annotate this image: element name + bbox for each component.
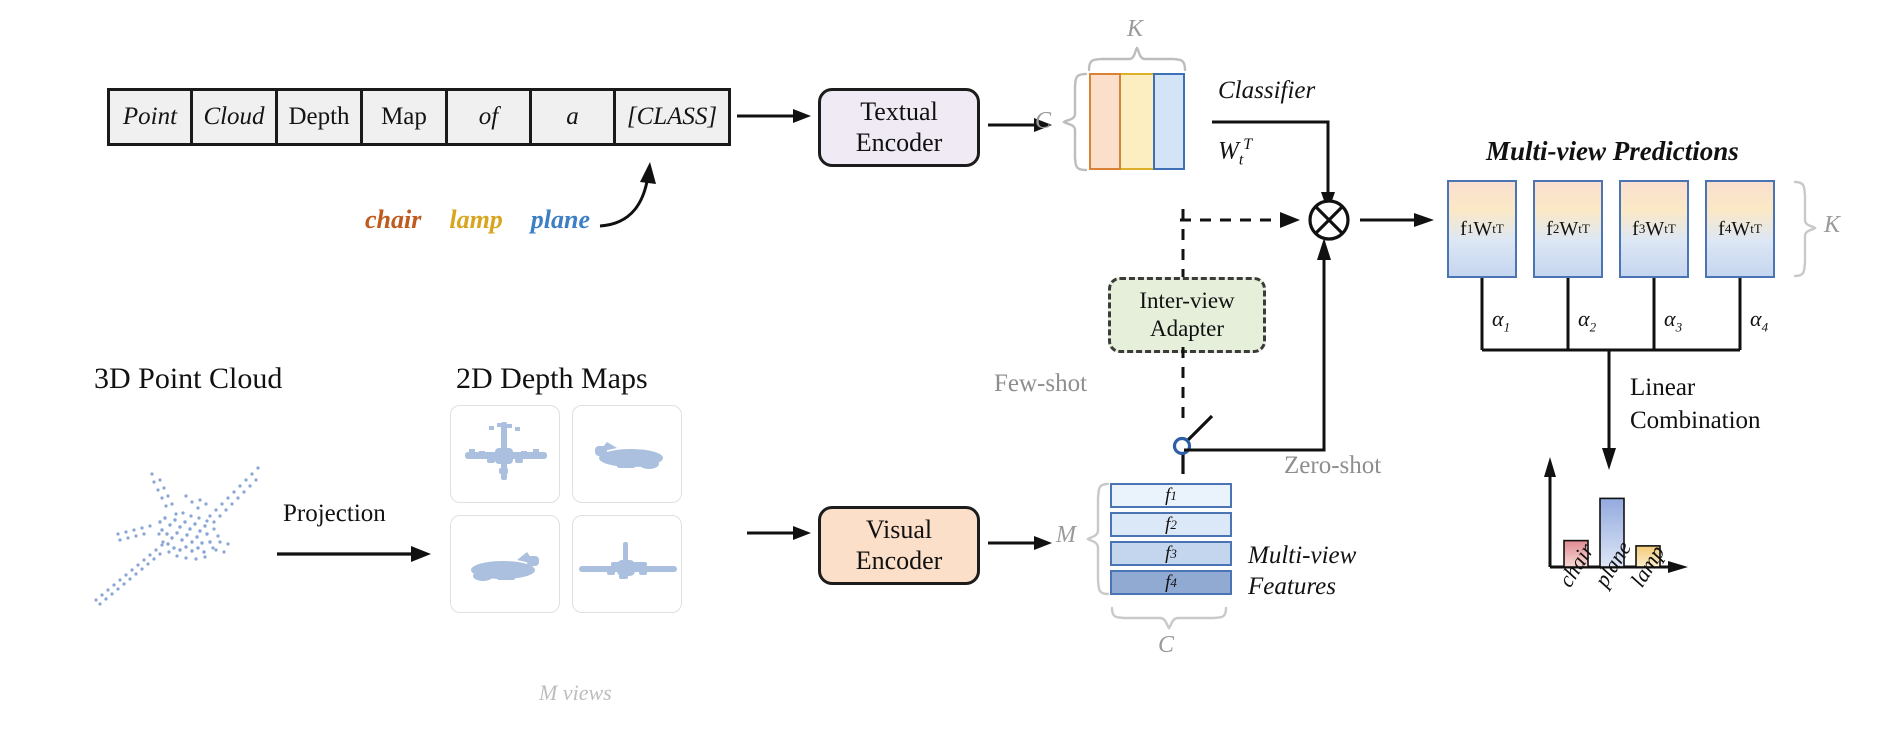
class-option-chair: chair bbox=[365, 205, 421, 235]
arrow-depthmaps-to-visual-encoder bbox=[745, 518, 815, 548]
arrow-prompt-to-textual-encoder bbox=[735, 100, 815, 132]
zero-shot-label: Zero-shot bbox=[1284, 452, 1381, 480]
brace-m-left bbox=[1086, 480, 1110, 598]
m-views-caption: M views bbox=[539, 680, 612, 706]
multi-view-feature-stack: f1 f2 f3 f4 bbox=[1110, 483, 1232, 595]
prompt-token-0: Point bbox=[110, 91, 193, 143]
mv-features-line2: Features bbox=[1248, 571, 1356, 602]
prompt-token-1: Cloud bbox=[193, 91, 278, 143]
alpha-label-1: α1 bbox=[1492, 306, 1510, 335]
prediction-box-1: f1WtT bbox=[1447, 180, 1517, 278]
arrow-projection bbox=[275, 540, 435, 568]
textual-encoder-box: Textual Encoder bbox=[818, 88, 980, 167]
brace-k-top bbox=[1085, 46, 1189, 72]
depth-map-view-4 bbox=[572, 515, 682, 613]
few-shot-label: Few-shot bbox=[994, 370, 1087, 398]
arrow-operator-to-predictions bbox=[1358, 206, 1438, 234]
prompt-token-class: [CLASS] bbox=[616, 91, 728, 143]
point-cloud-render bbox=[70, 430, 290, 610]
feature-row-2: f2 bbox=[1110, 512, 1232, 537]
alpha-label-4: α4 bbox=[1750, 306, 1768, 335]
predictions-k-label: K bbox=[1824, 212, 1840, 239]
brace-k-right bbox=[1793, 180, 1817, 280]
feature-row-1: f1 bbox=[1110, 483, 1232, 508]
classifier-column-plane bbox=[1153, 73, 1185, 170]
classifier-column-lamp bbox=[1121, 73, 1153, 170]
brace-c-left bbox=[1062, 70, 1088, 174]
depth-map-view-2 bbox=[572, 405, 682, 503]
prediction-box-3: f3WtT bbox=[1619, 180, 1689, 278]
classifier-weight-matrix bbox=[1089, 73, 1185, 170]
point-cloud-title: 3D Point Cloud bbox=[94, 362, 282, 396]
multiview-features-caption: Multi-view Features bbox=[1248, 540, 1356, 603]
classifier-c-label: C bbox=[1035, 108, 1051, 135]
prompt-token-row: Point Cloud Depth Map of a [CLASS] bbox=[107, 88, 731, 146]
linear-combination-line1: Linear bbox=[1630, 372, 1761, 405]
visual-encoder-line2: Encoder bbox=[856, 546, 943, 577]
textual-encoder-line2: Encoder bbox=[856, 128, 943, 159]
projection-label: Projection bbox=[283, 500, 386, 528]
prediction-box-4: f4WtT bbox=[1705, 180, 1775, 278]
class-option-plane: plane bbox=[531, 205, 590, 235]
mv-features-line1: Multi-view bbox=[1248, 540, 1356, 571]
classifier-column-chair bbox=[1089, 73, 1121, 170]
depth-map-4-render bbox=[573, 516, 682, 613]
prompt-token-4: of bbox=[448, 91, 532, 143]
curved-arrow-class-to-token bbox=[590, 140, 730, 230]
classifier-k-label: K bbox=[1127, 16, 1143, 43]
classifier-label: Classifier bbox=[1218, 77, 1315, 105]
feature-row-3: f3 bbox=[1110, 541, 1232, 566]
prompt-token-2: Depth bbox=[278, 91, 363, 143]
arrow-zeroshot-to-operator bbox=[1182, 236, 1342, 456]
dashed-arrow-adapter-to-operator bbox=[1178, 206, 1304, 234]
multi-view-prediction-boxes: f1WtT f2WtT f3WtT f4WtT bbox=[1447, 180, 1775, 278]
visual-encoder-box: Visual Encoder bbox=[818, 506, 980, 585]
figure-canvas: Point Cloud Depth Map of a [CLASS] chair… bbox=[0, 0, 1882, 746]
depth-map-2-render bbox=[573, 406, 682, 503]
depth-maps-title: 2D Depth Maps bbox=[456, 362, 648, 396]
alpha-label-3: α3 bbox=[1664, 306, 1682, 335]
visual-encoder-line1: Visual bbox=[866, 515, 932, 546]
linear-combination-line2: Combination bbox=[1630, 405, 1761, 438]
arrow-linear-combination bbox=[1596, 350, 1622, 472]
depth-map-1-render bbox=[451, 406, 560, 503]
depth-map-view-1 bbox=[450, 405, 560, 503]
prompt-token-5: a bbox=[532, 91, 616, 143]
prompt-token-3: Map bbox=[363, 91, 448, 143]
brace-c-bottom bbox=[1108, 606, 1234, 630]
textual-encoder-line1: Textual bbox=[860, 97, 938, 128]
features-c-label: C bbox=[1158, 632, 1174, 659]
depth-map-grid bbox=[450, 405, 682, 613]
class-option-lamp: lamp bbox=[449, 205, 502, 235]
feature-row-4: f4 bbox=[1110, 570, 1232, 595]
linear-combination-label: Linear Combination bbox=[1630, 372, 1761, 437]
depth-map-view-3 bbox=[450, 515, 560, 613]
class-options-list: chair lamp plane bbox=[365, 205, 590, 235]
arrow-visual-encoder-to-features bbox=[986, 528, 1056, 558]
prediction-box-2: f2WtT bbox=[1533, 180, 1603, 278]
multiview-predictions-title: Multi-view Predictions bbox=[1486, 136, 1739, 167]
alpha-label-2: α2 bbox=[1578, 306, 1596, 335]
depth-map-3-render bbox=[451, 516, 560, 613]
features-m-label: M bbox=[1056, 522, 1076, 549]
